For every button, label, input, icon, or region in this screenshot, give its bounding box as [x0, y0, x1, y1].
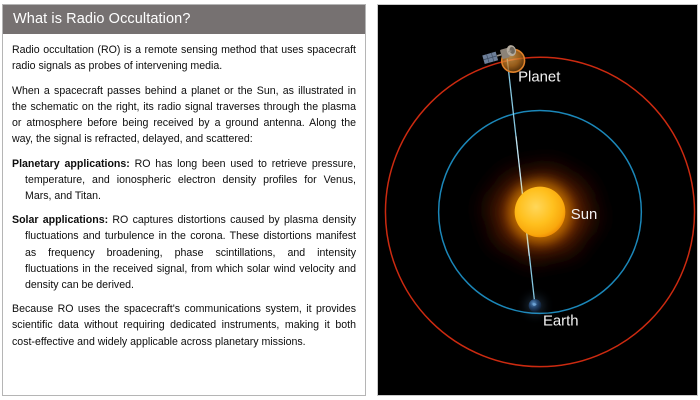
slide-root: What is Radio Occultation? Radio occulta… — [0, 0, 700, 400]
paragraph-planetary-applications: Planetary applications: RO has long been… — [12, 156, 356, 204]
earth-object — [527, 297, 543, 313]
diagram-panel: Sun Planet — [377, 4, 698, 396]
paragraph-intro-text: Radio occultation (RO) is a remote sensi… — [12, 44, 356, 72]
earth-label: Earth — [543, 313, 579, 329]
paragraph-benefit-text: Because RO uses the spacecraft's communi… — [12, 303, 356, 347]
paragraph-solar-applications: Solar applications: RO captures distorti… — [12, 212, 356, 292]
paragraph-mechanism-text: When a spacecraft passes behind a planet… — [12, 85, 356, 145]
sun-object — [508, 180, 572, 244]
paragraph-mechanism: When a spacecraft passes behind a planet… — [12, 83, 356, 147]
planetary-applications-lead: Planetary applications: — [12, 158, 130, 170]
page-title: What is Radio Occultation? — [13, 12, 191, 27]
paragraph-intro: Radio occultation (RO) is a remote sensi… — [12, 42, 356, 74]
solar-applications-lead: Solar applications: — [12, 214, 108, 226]
sun-label: Sun — [571, 207, 598, 223]
panel-header: What is Radio Occultation? — [3, 5, 365, 35]
paragraph-benefit: Because RO uses the spacecraft's communi… — [12, 301, 356, 349]
radio-occultation-schematic: Sun Planet — [378, 5, 697, 395]
sun-body — [515, 187, 566, 238]
text-panel: What is Radio Occultation? Radio occulta… — [2, 4, 366, 396]
planet-label: Planet — [518, 70, 561, 86]
panel-body: Radio occultation (RO) is a remote sensi… — [3, 35, 365, 395]
